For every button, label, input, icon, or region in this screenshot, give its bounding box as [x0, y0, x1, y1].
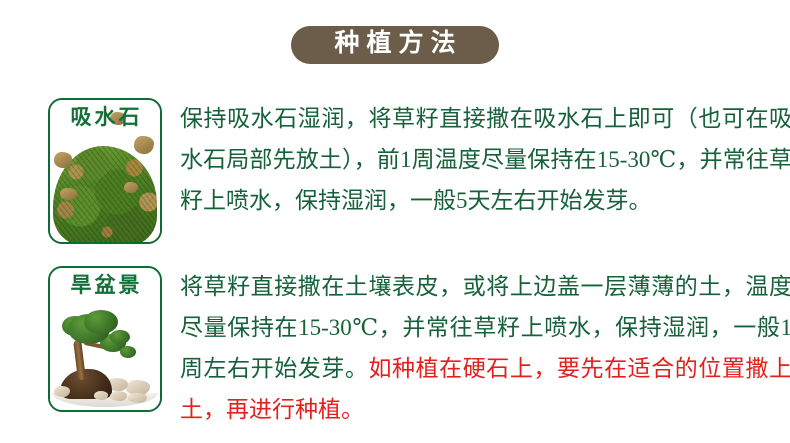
instruction-paragraph: 保持吸水石湿润，将草籽直接撒在吸水石上即可（也可在吸水石局部先放土），前1周温度…: [180, 98, 790, 221]
stone-icon: [94, 391, 108, 400]
photo-card-dry-bonsai: 旱盆景: [48, 266, 162, 412]
page-header: 种植方法: [0, 26, 790, 64]
foliage-icon: [110, 330, 130, 344]
stone-icon: [128, 393, 147, 403]
instruction-text-absorbent-stone: 保持吸水石湿润，将草籽直接撒在吸水石上即可（也可在吸水石局部先放土），前1周温度…: [180, 98, 790, 221]
foliage-icon: [120, 346, 136, 358]
instruction-paragraph: 将草籽直接撒在土壤表皮，或将上边盖一层薄薄的土，温度尽量保持在15-30℃，并常…: [180, 266, 790, 430]
stone-icon: [54, 386, 70, 397]
photo-card-absorbent-stone: 吸水石: [48, 98, 162, 244]
page-title: 种植方法: [291, 26, 498, 64]
instruction-text-normal: 保持吸水石湿润，将草籽直接撒在吸水石上即可（也可在吸水石局部先放土），前1周温度…: [180, 106, 790, 213]
section-dry-bonsai: 旱盆景 将草籽直接撒在土壤表皮，或将上边盖一层薄薄的土，温度尽量保持在15-30…: [48, 266, 790, 430]
foliage-icon: [84, 310, 118, 334]
instruction-text-dry-bonsai: 将草籽直接撒在土壤表皮，或将上边盖一层薄薄的土，温度尽量保持在15-30℃，并常…: [180, 266, 790, 430]
stone-icon: [110, 391, 127, 401]
section-absorbent-stone: 吸水石 保持吸水石湿润，将草籽直接撒在吸水石上即可（也可在吸水石局部先放土），前…: [48, 98, 790, 244]
photo-card-label: 旱盆景: [50, 274, 160, 298]
photo-card-label: 吸水石: [50, 106, 160, 130]
rock-chunk-icon: [134, 136, 154, 154]
